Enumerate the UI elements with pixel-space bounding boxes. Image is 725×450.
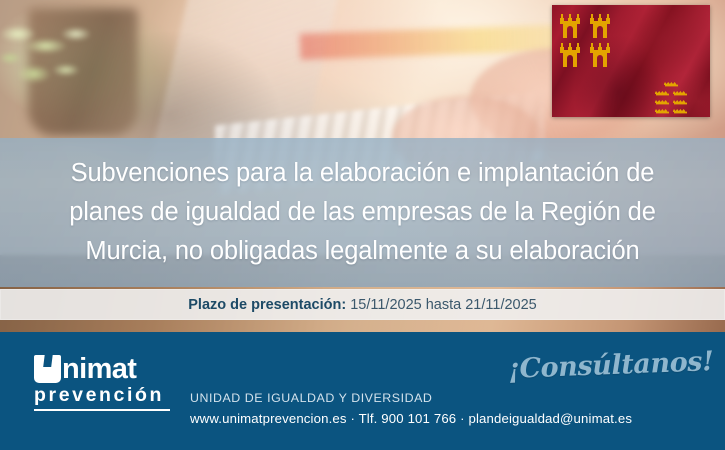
crown-icon [655,83,670,91]
deadline-strip: Plazo de presentación: 15/11/2025 hasta … [0,289,725,320]
logo-u-mark-icon [34,355,61,383]
logo-tagline: prevención [34,384,174,406]
footer-contact-line[interactable]: www.unimatprevencion.es · Tlf. 900 101 7… [190,409,632,428]
footer-bar: nimat prevención UNIDAD DE IGUALDAD Y DI… [0,332,725,450]
deadline-label: Plazo de presentación: [188,297,346,313]
crown-icon [655,92,670,100]
plant-leaves-decoration [0,14,120,106]
crown-icon [655,101,670,109]
footer-info: UNIDAD DE IGUALDAD Y DIVERSIDAD www.unim… [190,389,632,428]
crown-row [664,74,679,82]
deadline-value: 15/11/2025 hasta 21/11/2025 [350,297,537,313]
crown-row [655,92,688,100]
castle-icon [559,41,581,67]
flag-castles-group [559,12,611,67]
page-title: Subvenciones para la elaboración e impla… [43,154,683,271]
castle-icon [559,12,581,38]
logo-brand-name: nimat [62,355,136,383]
castle-icon [589,12,611,38]
consultanos-cta[interactable]: ¡Consúltanos! [507,346,714,385]
region-de-murcia-flag [552,5,710,117]
crown-row [655,83,688,91]
promo-banner: Subvenciones para la elaboración e impla… [0,0,725,450]
flag-crowns-group [640,74,702,109]
unimat-logo[interactable]: nimat prevención [34,353,174,411]
logo-wordmark: nimat [34,353,174,383]
deadline-text: Plazo de presentación: 15/11/2025 hasta … [188,297,537,313]
crown-icon [673,101,688,109]
crown-row [655,101,688,109]
footer-unit-name: UNIDAD DE IGUALDAD Y DIVERSIDAD [190,389,632,407]
castle-icon [589,41,611,67]
title-band: Subvenciones para la elaboración e impla… [0,138,725,287]
crown-icon [673,83,688,91]
crown-icon [673,92,688,100]
logo-underline [34,409,170,411]
crown-icon [664,74,679,82]
